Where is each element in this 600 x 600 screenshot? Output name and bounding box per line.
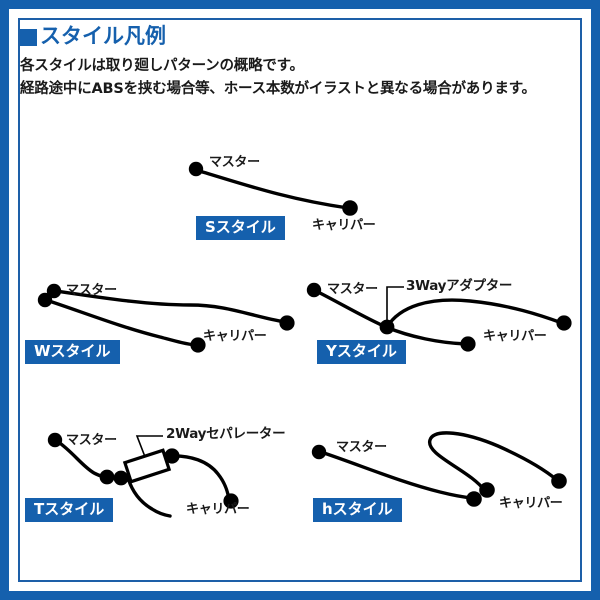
h-style-hose-loop bbox=[430, 433, 557, 491]
t-style-caliper-label: キャリパー bbox=[186, 503, 250, 516]
t-style-junction-node bbox=[114, 471, 129, 486]
s-style-master-node bbox=[189, 162, 203, 176]
w-style-master-label: マスター bbox=[66, 284, 117, 297]
s-style-badge[interactable]: Sスタイル bbox=[196, 216, 285, 240]
h-style-badge[interactable]: hスタイル bbox=[313, 498, 402, 522]
h-style-caliper-label: キャリパー bbox=[499, 497, 563, 510]
y-style-caliper-node-1 bbox=[460, 336, 475, 351]
t-style-badge[interactable]: Tスタイル bbox=[25, 498, 113, 522]
w-style-badge[interactable]: Wスタイル bbox=[25, 340, 120, 364]
y-style-badge[interactable]: Yスタイル bbox=[317, 340, 406, 364]
y-style-master-label: マスター bbox=[327, 283, 378, 296]
t-style-separator-label: 2Wayセパレーター bbox=[166, 428, 285, 442]
y-style-master-node bbox=[307, 283, 321, 297]
y-style-adapter-label: 3Wayアダプター bbox=[406, 280, 512, 294]
w-style-master-node-2 bbox=[38, 293, 52, 307]
y-style-hose-branch bbox=[387, 300, 562, 327]
h-style-master-label: マスター bbox=[336, 441, 387, 454]
w-style-caliper-label: キャリパー bbox=[203, 330, 267, 343]
h-style-master-node bbox=[312, 445, 326, 459]
h-style-caliper-node-3 bbox=[551, 473, 567, 489]
diagram-area: マスター キャリパー Sスタイル マスター キャリパー Wスタイル マスター 3… bbox=[0, 0, 600, 600]
s-style-caliper-node bbox=[342, 200, 358, 216]
style-legend-page: スタイル凡例 各スタイルは取り廻しパターンの概略です。 経路途中にABSを挟む場… bbox=[0, 0, 600, 600]
t-style-hose-upper bbox=[170, 456, 229, 500]
t-style-master-label: マスター bbox=[66, 434, 117, 447]
h-style-hose-master bbox=[321, 452, 472, 498]
s-style-caliper-label: キャリパー bbox=[312, 219, 376, 232]
two-way-separator-box bbox=[125, 450, 169, 481]
s-style-master-label: マスター bbox=[209, 156, 260, 169]
y-style-adapter-node bbox=[380, 320, 395, 335]
t-style-mid-node bbox=[100, 470, 115, 485]
t-style-caliper-node-1 bbox=[164, 448, 179, 463]
h-style-caliper-node-1 bbox=[466, 491, 482, 507]
w-style-caliper-node-1 bbox=[279, 315, 294, 330]
t-style-master-node bbox=[48, 433, 62, 447]
h-style-caliper-node-2 bbox=[479, 482, 495, 498]
y-style-caliper-node-2 bbox=[556, 315, 571, 330]
y-style-adapter-leader bbox=[387, 287, 404, 325]
w-style-hose-lower bbox=[46, 300, 196, 345]
t-style-hose-lower bbox=[128, 478, 170, 516]
y-style-caliper-label: キャリパー bbox=[483, 330, 547, 343]
s-style-hose bbox=[196, 170, 348, 208]
